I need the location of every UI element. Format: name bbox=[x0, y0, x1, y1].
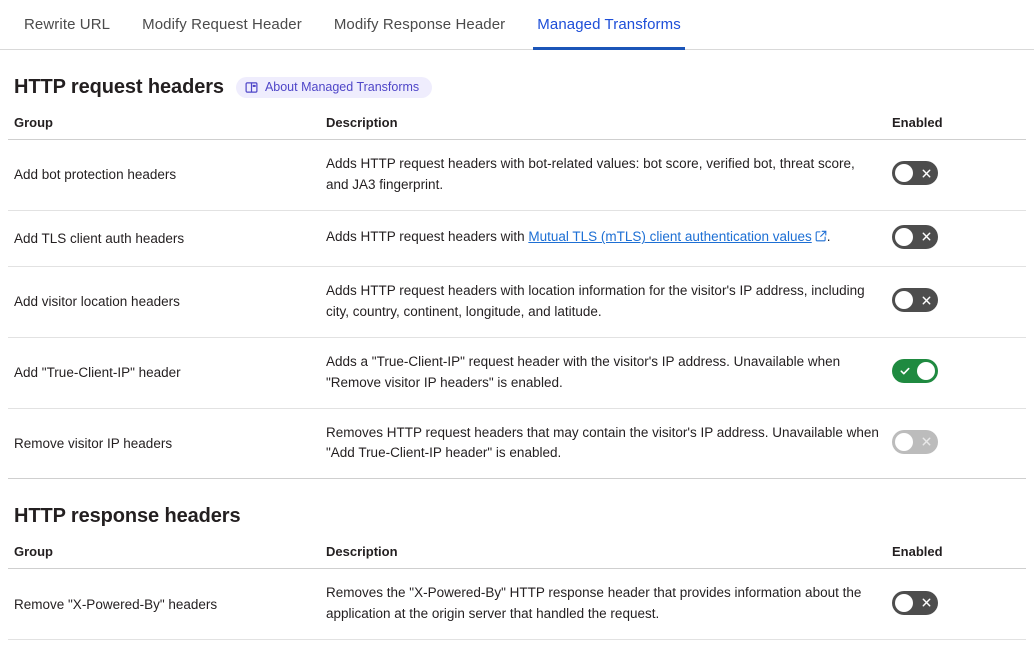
row-enabled-cell bbox=[886, 210, 1026, 266]
row-description: Adds a "True-Client-IP" request header w… bbox=[320, 337, 886, 408]
column-header-enabled: Enabled bbox=[886, 542, 1026, 569]
table-row: Remove visitor IP headers Removes HTTP r… bbox=[8, 408, 1026, 479]
tab-label: Managed Transforms bbox=[537, 16, 681, 33]
row-enabled-cell bbox=[886, 640, 1026, 653]
table-header-row: Group Description Enabled bbox=[8, 113, 1026, 140]
mtls-documentation-link[interactable]: Mutual TLS (mTLS) client authentication … bbox=[528, 229, 811, 244]
request-section-header: HTTP request headers About Managed Trans… bbox=[8, 50, 1026, 113]
table-row: Remove "X-Powered-By" headers Removes th… bbox=[8, 569, 1026, 640]
row-group-label: Add TLS client auth headers bbox=[8, 210, 320, 266]
row-group-label: Add "True-Client-IP" header bbox=[8, 337, 320, 408]
toggle-knob bbox=[895, 433, 913, 451]
about-pill-label: About Managed Transforms bbox=[265, 81, 419, 94]
toggle-remove-visitor-ip-headers bbox=[892, 430, 938, 454]
description-suffix: . bbox=[827, 229, 831, 244]
x-icon bbox=[921, 225, 932, 249]
toggle-knob bbox=[917, 362, 935, 380]
toggle-remove-x-powered-by-headers[interactable] bbox=[892, 591, 938, 615]
tab-managed-transforms[interactable]: Managed Transforms bbox=[521, 0, 697, 49]
toggle-add-true-client-ip-header[interactable] bbox=[892, 359, 938, 383]
toggle-knob bbox=[895, 164, 913, 182]
toggle-add-tls-client-auth-headers[interactable] bbox=[892, 225, 938, 249]
tab-label: Modify Response Header bbox=[334, 16, 505, 33]
row-enabled-cell bbox=[886, 337, 1026, 408]
response-headers-table: Group Description Enabled Remove "X-Powe… bbox=[8, 542, 1026, 653]
book-icon bbox=[245, 81, 258, 94]
http-request-headers-section: HTTP request headers About Managed Trans… bbox=[0, 50, 1034, 479]
row-description: Adds HTTP request headers with bot-relat… bbox=[320, 140, 886, 211]
request-headers-table: Group Description Enabled Add bot protec… bbox=[8, 113, 1026, 479]
page-title: HTTP request headers bbox=[14, 76, 224, 99]
column-header-description: Description bbox=[320, 542, 886, 569]
row-enabled-cell bbox=[886, 266, 1026, 337]
row-description: Adds HTTP request headers with location … bbox=[320, 266, 886, 337]
about-managed-transforms-button[interactable]: About Managed Transforms bbox=[236, 77, 432, 98]
tab-label: Modify Request Header bbox=[142, 16, 302, 33]
row-description: Adds several security-related HTTP respo… bbox=[320, 640, 886, 653]
tab-rewrite-url[interactable]: Rewrite URL bbox=[8, 0, 126, 49]
tab-modify-response-header[interactable]: Modify Response Header bbox=[318, 0, 521, 49]
toggle-add-visitor-location-headers[interactable] bbox=[892, 288, 938, 312]
row-group-label: Add security headers bbox=[8, 640, 320, 653]
tab-bar: Rewrite URL Modify Request Header Modify… bbox=[0, 0, 1034, 50]
table-row: Add security headers Adds several securi… bbox=[8, 640, 1026, 653]
toggle-knob bbox=[895, 228, 913, 246]
column-header-group: Group bbox=[8, 542, 320, 569]
row-description: Removes HTTP request headers that may co… bbox=[320, 408, 886, 479]
row-enabled-cell bbox=[886, 140, 1026, 211]
toggle-knob bbox=[895, 291, 913, 309]
row-description: Adds HTTP request headers with Mutual TL… bbox=[320, 210, 886, 266]
x-icon bbox=[921, 430, 932, 454]
toggle-add-bot-protection-headers[interactable] bbox=[892, 161, 938, 185]
http-response-headers-section: HTTP response headers Group Description … bbox=[0, 479, 1034, 653]
table-row: Add bot protection headers Adds HTTP req… bbox=[8, 140, 1026, 211]
row-group-label: Remove "X-Powered-By" headers bbox=[8, 569, 320, 640]
row-description: Removes the "X-Powered-By" HTTP response… bbox=[320, 569, 886, 640]
row-group-label: Add bot protection headers bbox=[8, 140, 320, 211]
check-icon bbox=[899, 359, 911, 383]
response-section-title: HTTP response headers bbox=[14, 505, 241, 528]
column-header-group: Group bbox=[8, 113, 320, 140]
table-row: Add visitor location headers Adds HTTP r… bbox=[8, 266, 1026, 337]
x-icon bbox=[921, 288, 932, 312]
table-header-row: Group Description Enabled bbox=[8, 542, 1026, 569]
column-header-enabled: Enabled bbox=[886, 113, 1026, 140]
row-enabled-cell bbox=[886, 569, 1026, 640]
response-section-header: HTTP response headers bbox=[8, 479, 1026, 542]
x-icon bbox=[921, 591, 932, 615]
tab-label: Rewrite URL bbox=[24, 16, 110, 33]
table-row: Add TLS client auth headers Adds HTTP re… bbox=[8, 210, 1026, 266]
tab-modify-request-header[interactable]: Modify Request Header bbox=[126, 0, 318, 49]
x-icon bbox=[921, 161, 932, 185]
row-group-label: Remove visitor IP headers bbox=[8, 408, 320, 479]
row-group-label: Add visitor location headers bbox=[8, 266, 320, 337]
table-row: Add "True-Client-IP" header Adds a "True… bbox=[8, 337, 1026, 408]
row-enabled-cell bbox=[886, 408, 1026, 479]
external-link-icon[interactable] bbox=[815, 228, 827, 249]
column-header-description: Description bbox=[320, 113, 886, 140]
description-prefix: Adds HTTP request headers with bbox=[326, 229, 528, 244]
toggle-knob bbox=[895, 594, 913, 612]
